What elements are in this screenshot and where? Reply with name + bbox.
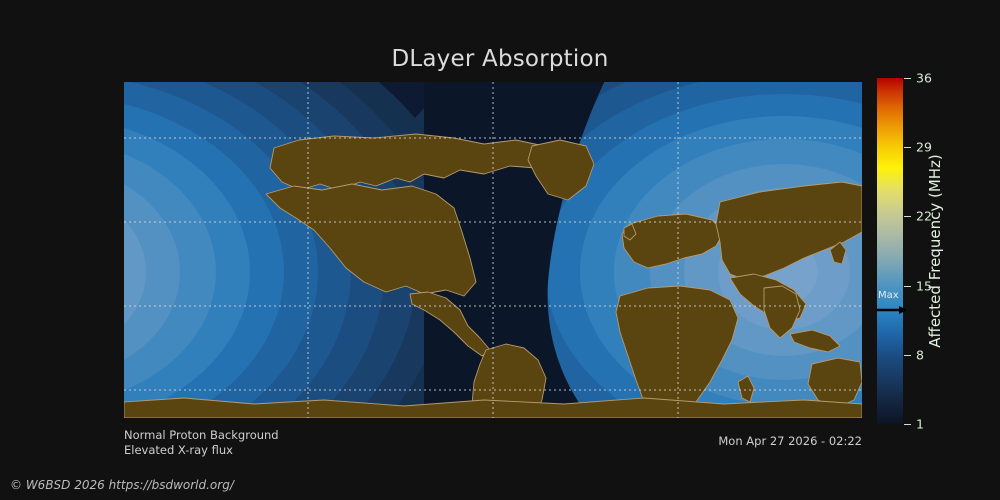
colorbar-tick-mark — [904, 355, 911, 356]
xray-status-text: Elevated X-ray flux — [124, 443, 279, 458]
map-canvas — [124, 82, 862, 418]
timestamp: Mon Apr 27 2026 - 02:22 — [718, 434, 862, 448]
colorbar-tick-mark — [904, 216, 911, 217]
colorbar[interactable] — [877, 78, 903, 424]
world-absorption-map[interactable] — [124, 82, 862, 418]
colorbar-axis-label: Affected Frequency (MHz) — [925, 78, 945, 424]
colorbar-axis-label-text: Affected Frequency (MHz) — [926, 154, 944, 348]
colorbar-tick-mark — [904, 78, 911, 79]
page-title: DLayer Absorption — [0, 46, 1000, 72]
colorbar-tick-label: 1 — [916, 417, 924, 432]
copyright-footer: © W6BSD 2026 https://bsdworld.org/ — [10, 478, 234, 492]
proton-status-text: Normal Proton Background — [124, 428, 279, 443]
colorbar-tick-label: 8 — [916, 347, 924, 362]
colorbar-gradient — [877, 78, 903, 424]
colorbar-tick-mark — [904, 286, 911, 287]
status-notes: Normal Proton Background Elevated X-ray … — [124, 428, 279, 458]
colorbar-tick-mark — [904, 424, 911, 425]
chart-root: DLayer Absorption — [0, 0, 1000, 500]
colorbar-tick-mark — [904, 147, 911, 148]
